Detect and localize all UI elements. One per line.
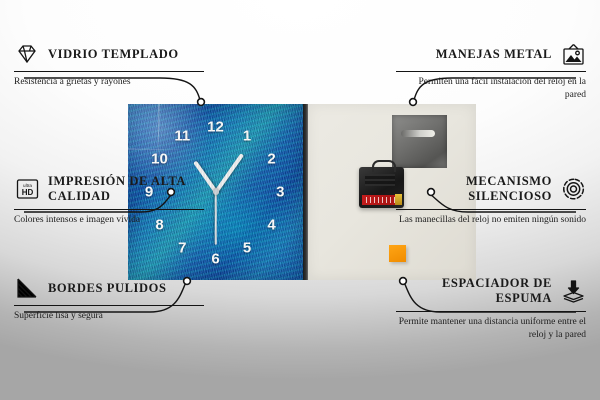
foam-spacer [389,245,406,262]
callout-desc: Colores intensos e imagen vívida [14,214,204,227]
callout-mecanismo-silencioso: MECANISMO SILENCIOSO Las manecillas del … [396,174,586,227]
callout-title: BORDES PULIDOS [48,281,167,296]
callout-impresion-alta-calidad: ultra HD IMPRESIÓN DE ALTA CALIDAD Color… [14,174,204,227]
clock-numeral-5: 5 [243,241,251,256]
callout-bordes-pulidos: BORDES PULIDOS Superficie lisa y segura [14,276,204,323]
clock-numeral-7: 7 [178,241,186,256]
callout-rule [14,305,204,306]
callout-desc: Resistencia a grietas y rayones [14,76,204,89]
metal-hanger-plate [392,115,447,168]
callout-title: MECANISMO SILENCIOSO [396,174,552,204]
clock-second-hand [215,192,217,245]
clock-numeral-3: 3 [276,185,284,200]
callout-title: VIDRIO TEMPLADO [48,47,179,62]
gear-icon [560,177,586,201]
clock-minute-hand [214,153,244,193]
clock-hand-cap [213,189,219,195]
callout-vidrio-templado: VIDRIO TEMPLADO Resistencia a grietas y … [14,42,204,89]
infographic-stage: 12 1 2 3 4 5 6 7 8 9 10 11 [0,0,600,400]
mechanism-detail [365,174,395,186]
callout-rule [14,71,204,72]
callout-title: IMPRESIÓN DE ALTA CALIDAD [48,174,204,204]
clock-numeral-1: 1 [243,128,251,143]
callout-desc: Permiten una fácil instalación del reloj… [396,76,586,102]
mechanism-hanging-loop [372,160,396,172]
callout-manejas-metal: MANEJAS METAL Permiten una fácil instala… [396,42,586,102]
callout-title: ESPACIADOR DE ESPUMA [396,276,552,306]
callout-desc: Las manecillas del reloj no emiten ningú… [396,214,586,227]
callout-desc: Permite mantener una distancia uniforme … [396,316,586,342]
clock-numeral-10: 10 [151,151,168,166]
arrow-down-layers-icon [560,279,586,303]
clock-numeral-12: 12 [207,119,224,134]
hanger-slot [401,130,435,137]
polished-edges-icon [14,276,40,300]
callout-rule [396,311,586,312]
clock-numeral-6: 6 [211,251,219,266]
clock-numeral-2: 2 [267,151,275,166]
diamond-icon [14,42,40,66]
callout-espaciador-espuma: ESPACIADOR DE ESPUMA Permite mantener un… [396,276,586,342]
clock-numeral-4: 4 [267,218,275,233]
ultra-hd-icon: ultra HD [14,177,40,201]
callout-desc: Superficie lisa y segura [14,310,204,323]
callout-rule [14,209,204,210]
callout-rule [396,71,586,72]
clock-numeral-11: 11 [174,128,190,143]
callout-title: MANEJAS METAL [436,47,552,62]
picture-frame-hanger-icon [560,42,586,66]
callout-rule [396,209,586,210]
svg-text:HD: HD [21,188,33,197]
